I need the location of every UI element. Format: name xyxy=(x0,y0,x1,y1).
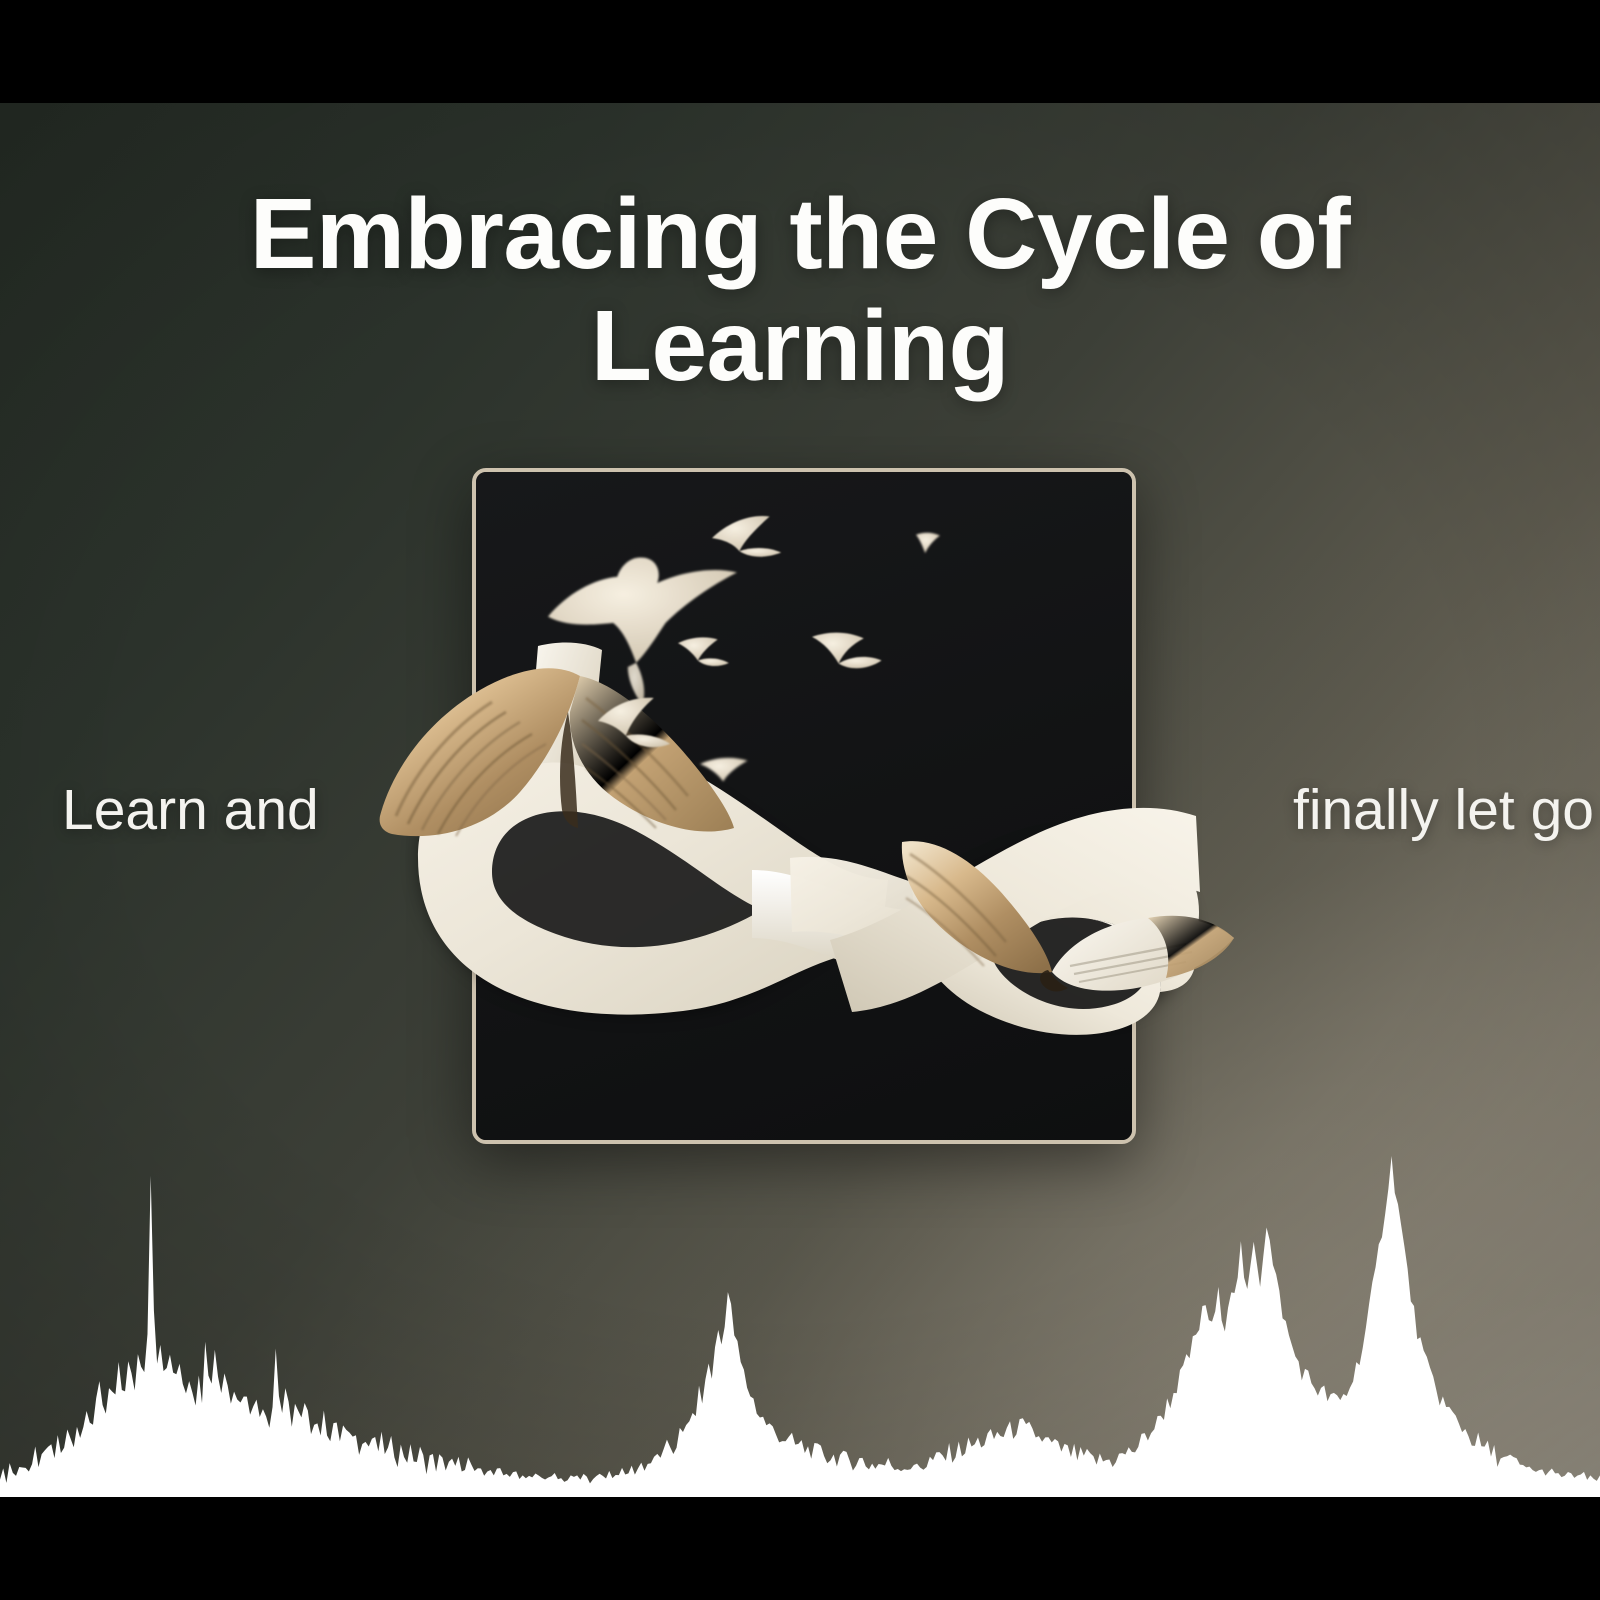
title-line-2: Learning xyxy=(0,290,1600,402)
letterbox-top xyxy=(0,0,1600,103)
artwork-card-inner xyxy=(476,472,1132,1140)
artwork-card xyxy=(472,468,1136,1144)
slide-canvas: Embracing the Cycle of Learning Learn an… xyxy=(0,0,1600,1600)
title-line-1: Embracing the Cycle of xyxy=(250,178,1350,290)
page-title: Embracing the Cycle of Learning xyxy=(0,178,1600,402)
caption-right: finally let go xyxy=(1293,779,1594,842)
letterbox-bottom xyxy=(0,1497,1600,1600)
caption-left: Learn and xyxy=(62,779,319,842)
